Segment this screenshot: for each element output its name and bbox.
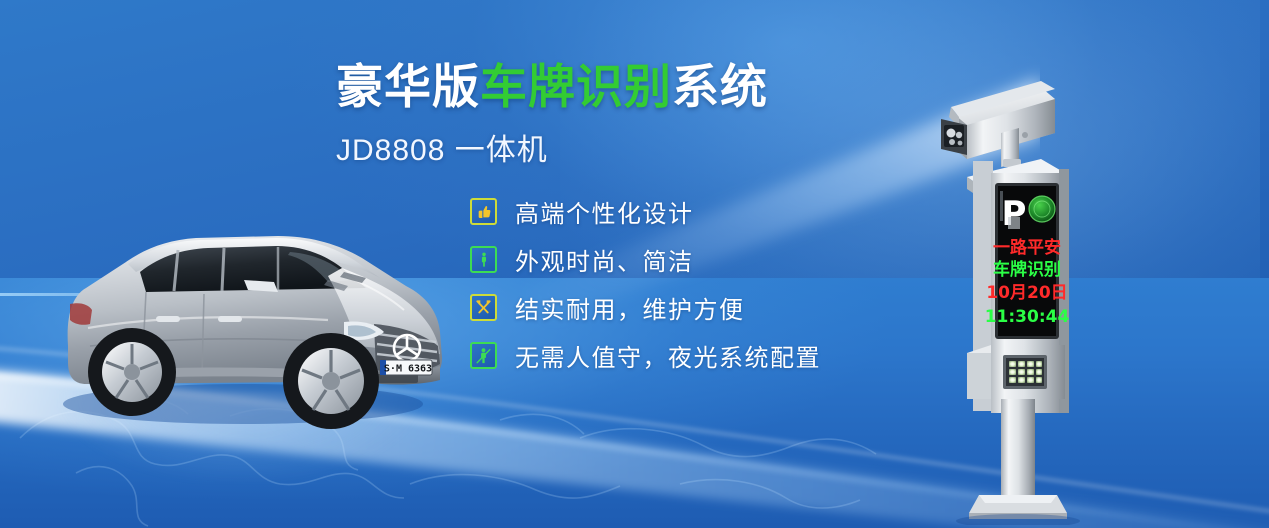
model-subtitle: JD8808 一体机	[336, 125, 768, 169]
feature-label: 高端个性化设计	[515, 194, 694, 229]
vehicle-image: S·M 6363	[28, 196, 458, 446]
license-plate: S·M 6363	[380, 360, 432, 375]
led-illuminator-housing	[967, 345, 1065, 399]
feature-label: 外观时尚、简洁	[515, 242, 694, 277]
feature-item-0: 高端个性化设计	[470, 188, 821, 235]
support-pole	[1001, 399, 1035, 495]
person-standing-icon	[470, 246, 497, 273]
headline-block: 豪华版车牌识别系统 JD8808 一体机	[336, 62, 768, 169]
led-line-4: 11:30:44	[985, 307, 1070, 327]
feature-list: 高端个性化设计 外观时尚、简洁 结实耐用，维护方便	[470, 188, 821, 380]
no-person-icon	[470, 342, 497, 369]
product-banner: 豪华版车牌识别系统 JD8808 一体机 高端个性化设计 外观时尚、简洁	[0, 0, 1269, 528]
led-line-1: 一路平安	[993, 237, 1061, 258]
feature-label: 结实耐用，维护方便	[515, 290, 745, 325]
feature-item-2: 结实耐用，维护方便	[470, 284, 821, 331]
tools-cross-icon	[470, 294, 497, 321]
led-line-2: 车牌识别	[993, 259, 1061, 280]
thumbs-up-icon	[470, 198, 497, 225]
headline-part1: 豪华版	[336, 60, 480, 113]
headline-part3: 系统	[672, 60, 768, 113]
headline-part2: 车牌识别	[480, 60, 672, 113]
feature-label: 无需人值守，夜光系统配置	[515, 338, 821, 373]
page-title: 豪华版车牌识别系统	[336, 62, 768, 113]
svg-text:S·M 6363: S·M 6363	[384, 364, 432, 375]
cctv-camera	[941, 81, 1055, 167]
feature-item-1: 外观时尚、简洁	[470, 236, 821, 283]
rear-wheel	[88, 328, 176, 416]
led-line-3: 10月20日	[986, 283, 1067, 303]
feature-item-3: 无需人值守，夜光系统配置	[470, 332, 821, 379]
parking-kiosk: P 一路平安 车牌识别 10月20日 11:30:44	[915, 55, 1090, 525]
front-wheel	[283, 333, 379, 429]
